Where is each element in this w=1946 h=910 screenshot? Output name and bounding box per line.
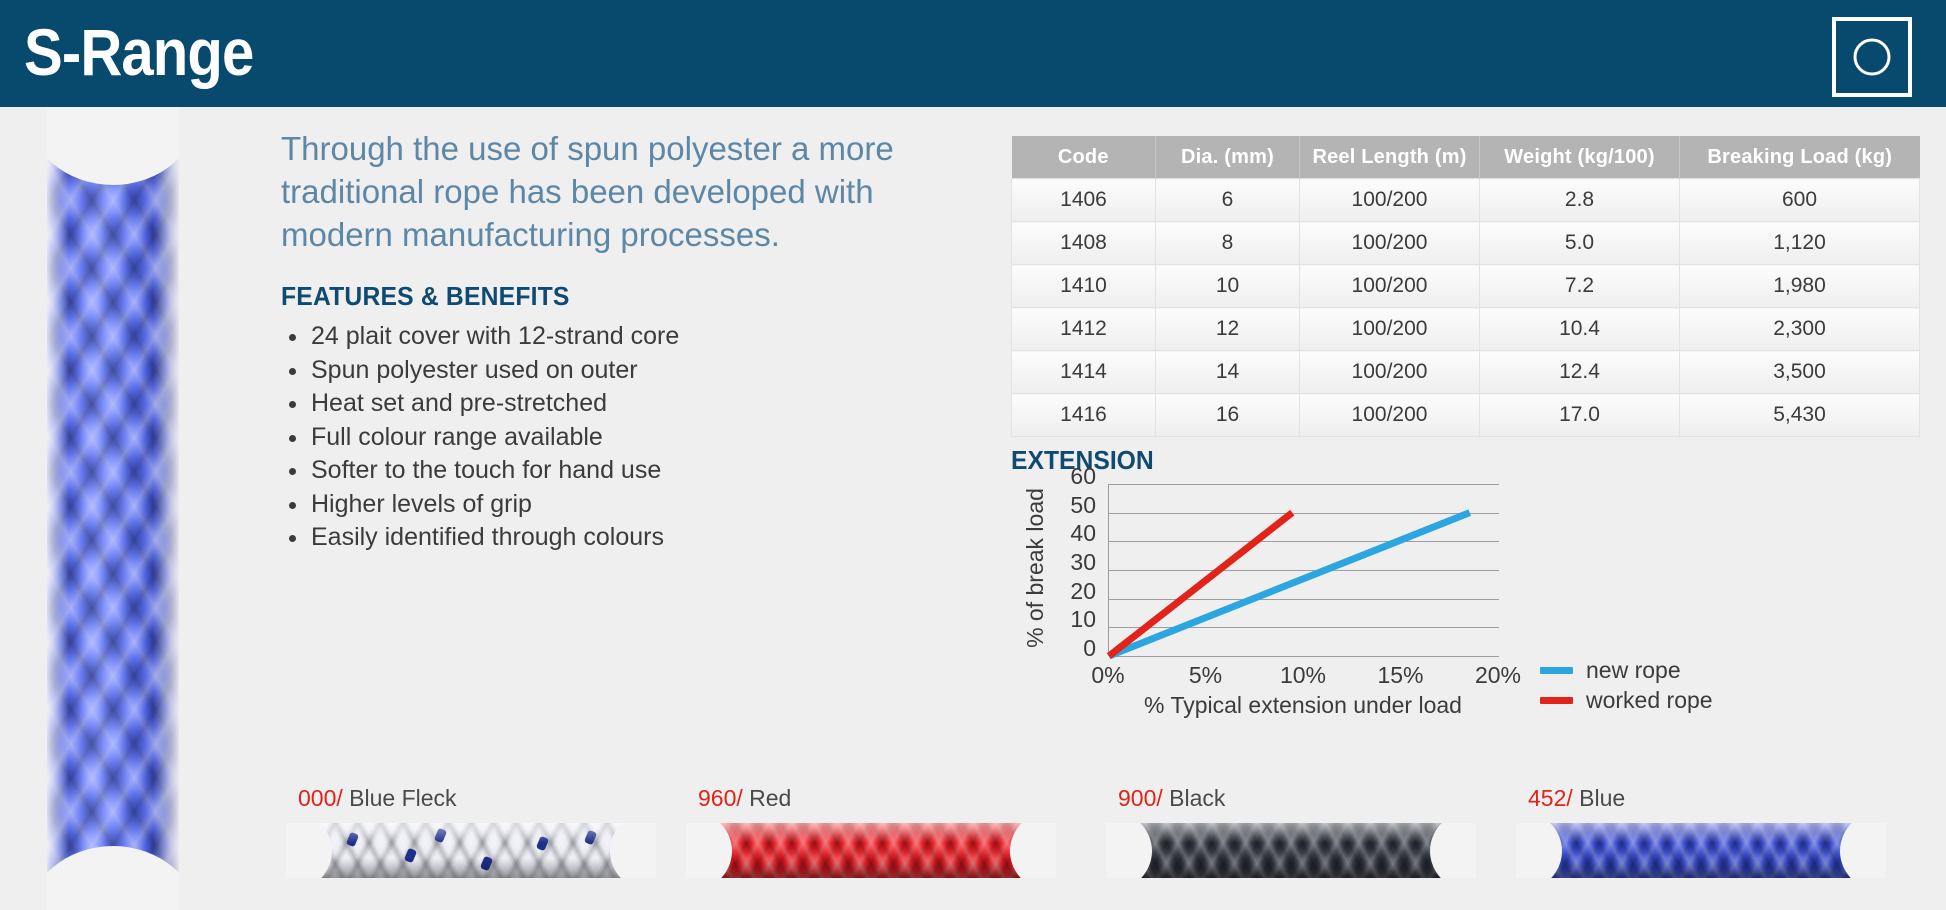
feature-item: Softer to the touch for hand use (281, 454, 921, 488)
table-cell: 14 (1156, 351, 1300, 394)
table-cell: 100/200 (1300, 351, 1480, 394)
chart-y-tick-label: 30 (1044, 552, 1096, 572)
legend-item[interactable]: worked rope (1540, 685, 1860, 715)
colour-name: Red (743, 785, 792, 811)
table-cell: 7.2 (1480, 265, 1680, 308)
rope-gloss-top (686, 823, 1056, 843)
chart-x-tick-label: 5% (1171, 662, 1241, 689)
chart-y-ticks: 0102030405060 (1044, 476, 1096, 666)
chart-plot-area (1108, 484, 1499, 656)
table-row: 141010100/2007.21,980 (1012, 265, 1920, 308)
rope-shadow-bottom (286, 858, 656, 878)
table-cell: 12 (1156, 308, 1300, 351)
colour-code: 960/ (698, 785, 743, 811)
column-header: Dia. (mm) (1156, 136, 1300, 179)
chart-legend: new ropeworked rope (1540, 655, 1860, 715)
table-row: 141414100/20012.43,500 (1012, 351, 1920, 394)
table-cell: 1,120 (1680, 222, 1920, 265)
table-row: 141616100/20017.05,430 (1012, 394, 1920, 437)
table-cell: 1410 (1012, 265, 1156, 308)
rope-crop-right (1010, 823, 1056, 878)
table-row: 14066100/2002.8600 (1012, 179, 1920, 222)
table-cell: 10 (1156, 265, 1300, 308)
table-cell: 100/200 (1300, 179, 1480, 222)
table-cell: 600 (1680, 179, 1920, 222)
chart-x-tick-label: 10% (1268, 662, 1338, 689)
colour-swatch-label: 960/ Red (698, 785, 791, 812)
table-cell: 1416 (1012, 394, 1156, 437)
table-cell: 2,300 (1680, 308, 1920, 351)
column-header: Reel Length (m) (1300, 136, 1480, 179)
legend-item[interactable]: new rope (1540, 655, 1860, 685)
rope-colour-sample (1516, 823, 1886, 878)
features-heading: FEATURES & BENEFITS (281, 281, 570, 312)
colour-swatch[interactable]: 000/ Blue Fleck (286, 785, 656, 910)
rope-colour-sample (1106, 823, 1476, 878)
colour-name: Blue (1573, 785, 1625, 811)
chart-y-tick-label: 40 (1044, 523, 1096, 543)
table-cell: 5,430 (1680, 394, 1920, 437)
rope-colour-sample (286, 823, 656, 878)
legend-colour-swatch (1540, 697, 1573, 704)
colour-code: 900/ (1118, 785, 1163, 811)
table-cell: 5.0 (1480, 222, 1680, 265)
rope-crop-left (286, 823, 332, 878)
product-photo-rope (47, 107, 179, 910)
table-header-row: CodeDia. (mm)Reel Length (m)Weight (kg/1… (1012, 136, 1920, 179)
feature-item: Heat set and pre-stretched (281, 387, 921, 421)
feature-item: 24 plait cover with 12-strand core (281, 320, 921, 354)
feature-item: Easily identified through colours (281, 521, 921, 555)
rope-shadow-bottom (686, 858, 1056, 878)
table-cell: 2.8 (1480, 179, 1680, 222)
compass-icon (1832, 17, 1912, 97)
table-cell: 16 (1156, 394, 1300, 437)
colour-swatch[interactable]: 452/ Blue (1516, 785, 1886, 910)
table-head: CodeDia. (mm)Reel Length (m)Weight (kg/1… (1012, 136, 1920, 179)
colour-code: 000/ (298, 785, 343, 811)
table-cell: 8 (1156, 222, 1300, 265)
rope-gloss-top (286, 823, 656, 843)
chart-y-tick-label: 60 (1044, 466, 1096, 486)
chart-y-tick-label: 10 (1044, 609, 1096, 629)
legend-label: worked rope (1586, 687, 1713, 714)
colour-swatch-label: 900/ Black (1118, 785, 1225, 812)
colour-swatch[interactable]: 900/ Black (1106, 785, 1476, 910)
table-body: 14066100/2002.860014088100/2005.01,12014… (1012, 179, 1920, 437)
chart-x-tick-label: 0% (1073, 662, 1143, 689)
column-header: Breaking Load (kg) (1680, 136, 1920, 179)
chart-series-lines (1109, 484, 1499, 656)
table-cell: 100/200 (1300, 222, 1480, 265)
feature-item: Full colour range available (281, 421, 921, 455)
chart-x-ticks: 0%5%10%15%20% (1108, 662, 1528, 692)
chart-x-tick-label: 20% (1463, 662, 1533, 689)
table-cell: 100/200 (1300, 308, 1480, 351)
intro-paragraph: Through the use of spun polyester a more… (281, 127, 941, 256)
specification-table: CodeDia. (mm)Reel Length (m)Weight (kg/1… (1011, 136, 1920, 437)
rope-shadow-bottom (1516, 858, 1886, 878)
extension-chart: % of break load 0102030405060 0%5%10%15%… (1000, 480, 1560, 700)
page-title: S-Range (24, 14, 253, 90)
table-cell: 1406 (1012, 179, 1156, 222)
page-header: S-Range (0, 0, 1946, 107)
table-cell: 1,980 (1680, 265, 1920, 308)
rope-crop-left (1106, 823, 1152, 878)
colour-name: Blue Fleck (343, 785, 457, 811)
table-cell: 100/200 (1300, 265, 1480, 308)
chart-line-new-rope (1109, 513, 1470, 656)
chart-gridline (1109, 656, 1499, 657)
table-row: 141212100/20010.42,300 (1012, 308, 1920, 351)
rope-crop-left (1516, 823, 1562, 878)
rope-shadow-right (153, 107, 179, 910)
legend-label: new rope (1586, 657, 1681, 684)
rope-crop-right (1430, 823, 1476, 878)
rope-crop-left (686, 823, 732, 878)
table-cell: 6 (1156, 179, 1300, 222)
colour-swatch-label: 452/ Blue (1528, 785, 1625, 812)
table-cell: 3,500 (1680, 351, 1920, 394)
colour-code: 452/ (1528, 785, 1573, 811)
chart-y-tick-label: 50 (1044, 495, 1096, 515)
feature-item: Spun polyester used on outer (281, 354, 921, 388)
rope-gloss-top (1106, 823, 1476, 843)
colour-swatch-label: 000/ Blue Fleck (298, 785, 457, 812)
rope-crop-right (1840, 823, 1886, 878)
rope-highlight-left (47, 107, 69, 910)
table-cell: 1414 (1012, 351, 1156, 394)
table-cell: 1412 (1012, 308, 1156, 351)
table-cell: 100/200 (1300, 394, 1480, 437)
feature-item: Higher levels of grip (281, 488, 921, 522)
column-header: Code (1012, 136, 1156, 179)
table-cell: 17.0 (1480, 394, 1680, 437)
chart-y-tick-label: 0 (1044, 638, 1096, 658)
table-cell: 10.4 (1480, 308, 1680, 351)
table-cell: 1408 (1012, 222, 1156, 265)
column-header: Weight (kg/100) (1480, 136, 1680, 179)
chart-line-worked-rope (1109, 513, 1292, 656)
rope-gloss-top (1516, 823, 1886, 843)
rope-crop-right (610, 823, 656, 878)
chart-y-tick-label: 20 (1044, 581, 1096, 601)
features-list: 24 plait cover with 12-strand coreSpun p… (281, 320, 921, 555)
product-datasheet-page: S-Range Through the use of spun polyeste… (0, 0, 1946, 910)
rope-colour-sample (686, 823, 1056, 878)
rope-shadow-bottom (1106, 858, 1476, 878)
table-row: 14088100/2005.01,120 (1012, 222, 1920, 265)
colour-swatch[interactable]: 960/ Red (686, 785, 1056, 910)
chart-x-axis-label: % Typical extension under load (1108, 692, 1498, 719)
chart-x-tick-label: 15% (1366, 662, 1436, 689)
table-cell: 12.4 (1480, 351, 1680, 394)
colour-name: Black (1163, 785, 1226, 811)
legend-colour-swatch (1540, 667, 1573, 674)
